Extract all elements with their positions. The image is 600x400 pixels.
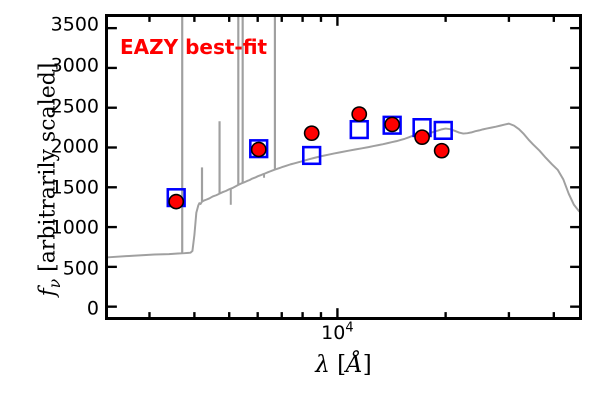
y-tick-label: 0 — [87, 300, 99, 319]
observed-photometry-circle — [352, 107, 366, 121]
spectrum-plot-svg — [108, 17, 579, 317]
observed-photometry-markers — [169, 107, 449, 209]
observed-photometry-circle — [305, 126, 319, 140]
observed-photometry-circle — [415, 130, 429, 144]
figure-canvas: 0500100015002000250030003500 fν [arbitra… — [0, 0, 600, 400]
eazy-best-fit-annotation: EAZY best-fit — [120, 35, 267, 59]
observed-photometry-circle — [435, 144, 449, 158]
y-tick-label: 500 — [63, 259, 99, 278]
plot-area — [105, 14, 582, 320]
observed-photometry-circle — [385, 117, 399, 131]
observed-photometry-circle — [169, 195, 183, 209]
model-photometry-square — [303, 147, 320, 164]
y-axis-title: fν [arbitrarily scaled] — [36, 15, 61, 345]
x-tick-label: 104 — [321, 324, 353, 343]
x-axis-tick-labels: 104 — [105, 322, 582, 352]
axis-ticks — [108, 17, 579, 317]
observed-photometry-circle — [252, 142, 266, 156]
x-axis-title: λ [Å] — [105, 352, 582, 378]
model-photometry-square — [351, 121, 368, 138]
